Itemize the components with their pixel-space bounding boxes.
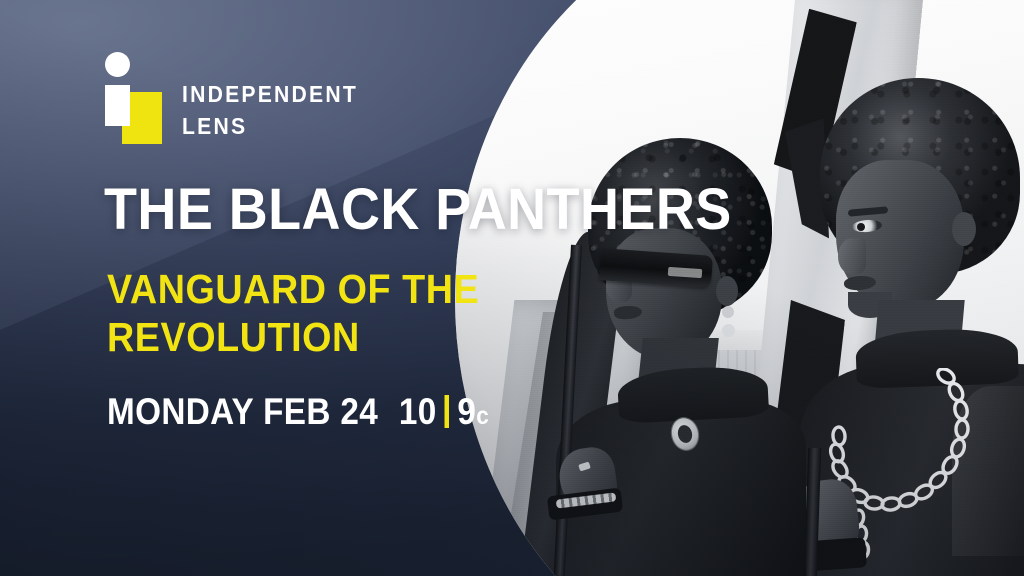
- airdate-time-separator: [445, 395, 450, 428]
- independent-lens-mark-icon: [100, 52, 162, 144]
- airdate-time-ct: 9: [457, 393, 476, 430]
- program-subtitle: VANGUARD OF THE REVOLUTION: [107, 266, 479, 362]
- airdate-time-et: 10: [399, 393, 437, 430]
- wordmark-line-1: INDEPENDENT: [182, 81, 358, 107]
- airdate-line: MONDAY FEB 24 10 9 c: [107, 391, 489, 430]
- airdate-day: MONDAY FEB 24: [107, 393, 378, 430]
- independent-lens-wordmark: INDEPENDENT LENS: [182, 79, 358, 142]
- promo-graphic: INDEPENDENT LENS THE BLACK PANTHERS VANG…: [0, 0, 1024, 576]
- independent-lens-logo: INDEPENDENT LENS: [100, 52, 373, 144]
- wordmark-line-2: LENS: [182, 113, 247, 139]
- il-monogram-icon: [100, 52, 162, 144]
- airdate-time-ct-suffix: c: [476, 404, 489, 429]
- program-title: THE BLACK PANTHERS: [104, 181, 732, 239]
